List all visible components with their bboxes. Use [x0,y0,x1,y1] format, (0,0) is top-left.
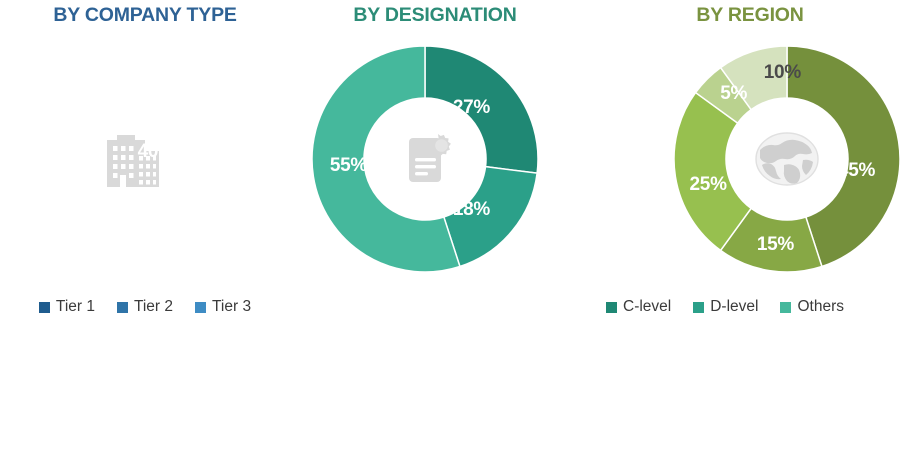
slice-label-europe: 15% [757,234,794,256]
slice-label-north-america: 45% [838,160,875,182]
chart-panel-designation: BY DESIGNATION 27% 18% 55% [290,0,580,460]
legend-company-type: Tier 1 Tier 2 Tier 3 [0,298,290,316]
slice-label-tier-3: 30% [59,104,96,126]
donut-chart-designation: 27% 18% 55% [309,43,541,275]
legend-item-tier-1[interactable]: Tier 1 [39,298,95,316]
page-title-region: BY REGION [600,4,900,27]
slice-label-tier-2: 30% [80,201,117,223]
donut-chart-region: 45% 15% 25% 5% 10% [671,43,900,275]
slice-label-c-level: 27% [453,97,490,119]
legend-label: Tier 1 [56,298,95,316]
certificate-document-icon [386,120,464,198]
slice-label-tier-1: 40% [138,141,175,163]
page-title-company-type: BY COMPANY TYPE [0,4,290,27]
legend-label: Tier 2 [134,298,173,316]
slice-label-middle-east: 5% [720,83,747,105]
legend-item-tier-2[interactable]: Tier 2 [117,298,173,316]
slice-label-others: 55% [330,155,367,177]
page-title-designation: BY DESIGNATION [290,4,580,27]
slice-label-asia-pacific: 25% [690,174,727,196]
legend-label: Tier 3 [212,298,251,316]
legend-swatch-icon [117,302,128,313]
legend-swatch-icon [195,302,206,313]
chart-panel-company-type: BY COMPANY TYPE [0,0,290,460]
chart-panel-region: BY REGION 45% 15% 25% 5% 10% N [600,0,900,460]
globe-icon [748,120,826,198]
legend-swatch-icon [39,302,50,313]
legend-item-tier-3[interactable]: Tier 3 [195,298,251,316]
slice-label-row: 10% [764,62,801,84]
donut-chart-company-type: 40% 30% 30% [17,43,249,275]
slice-label-d-level: 18% [453,199,490,221]
